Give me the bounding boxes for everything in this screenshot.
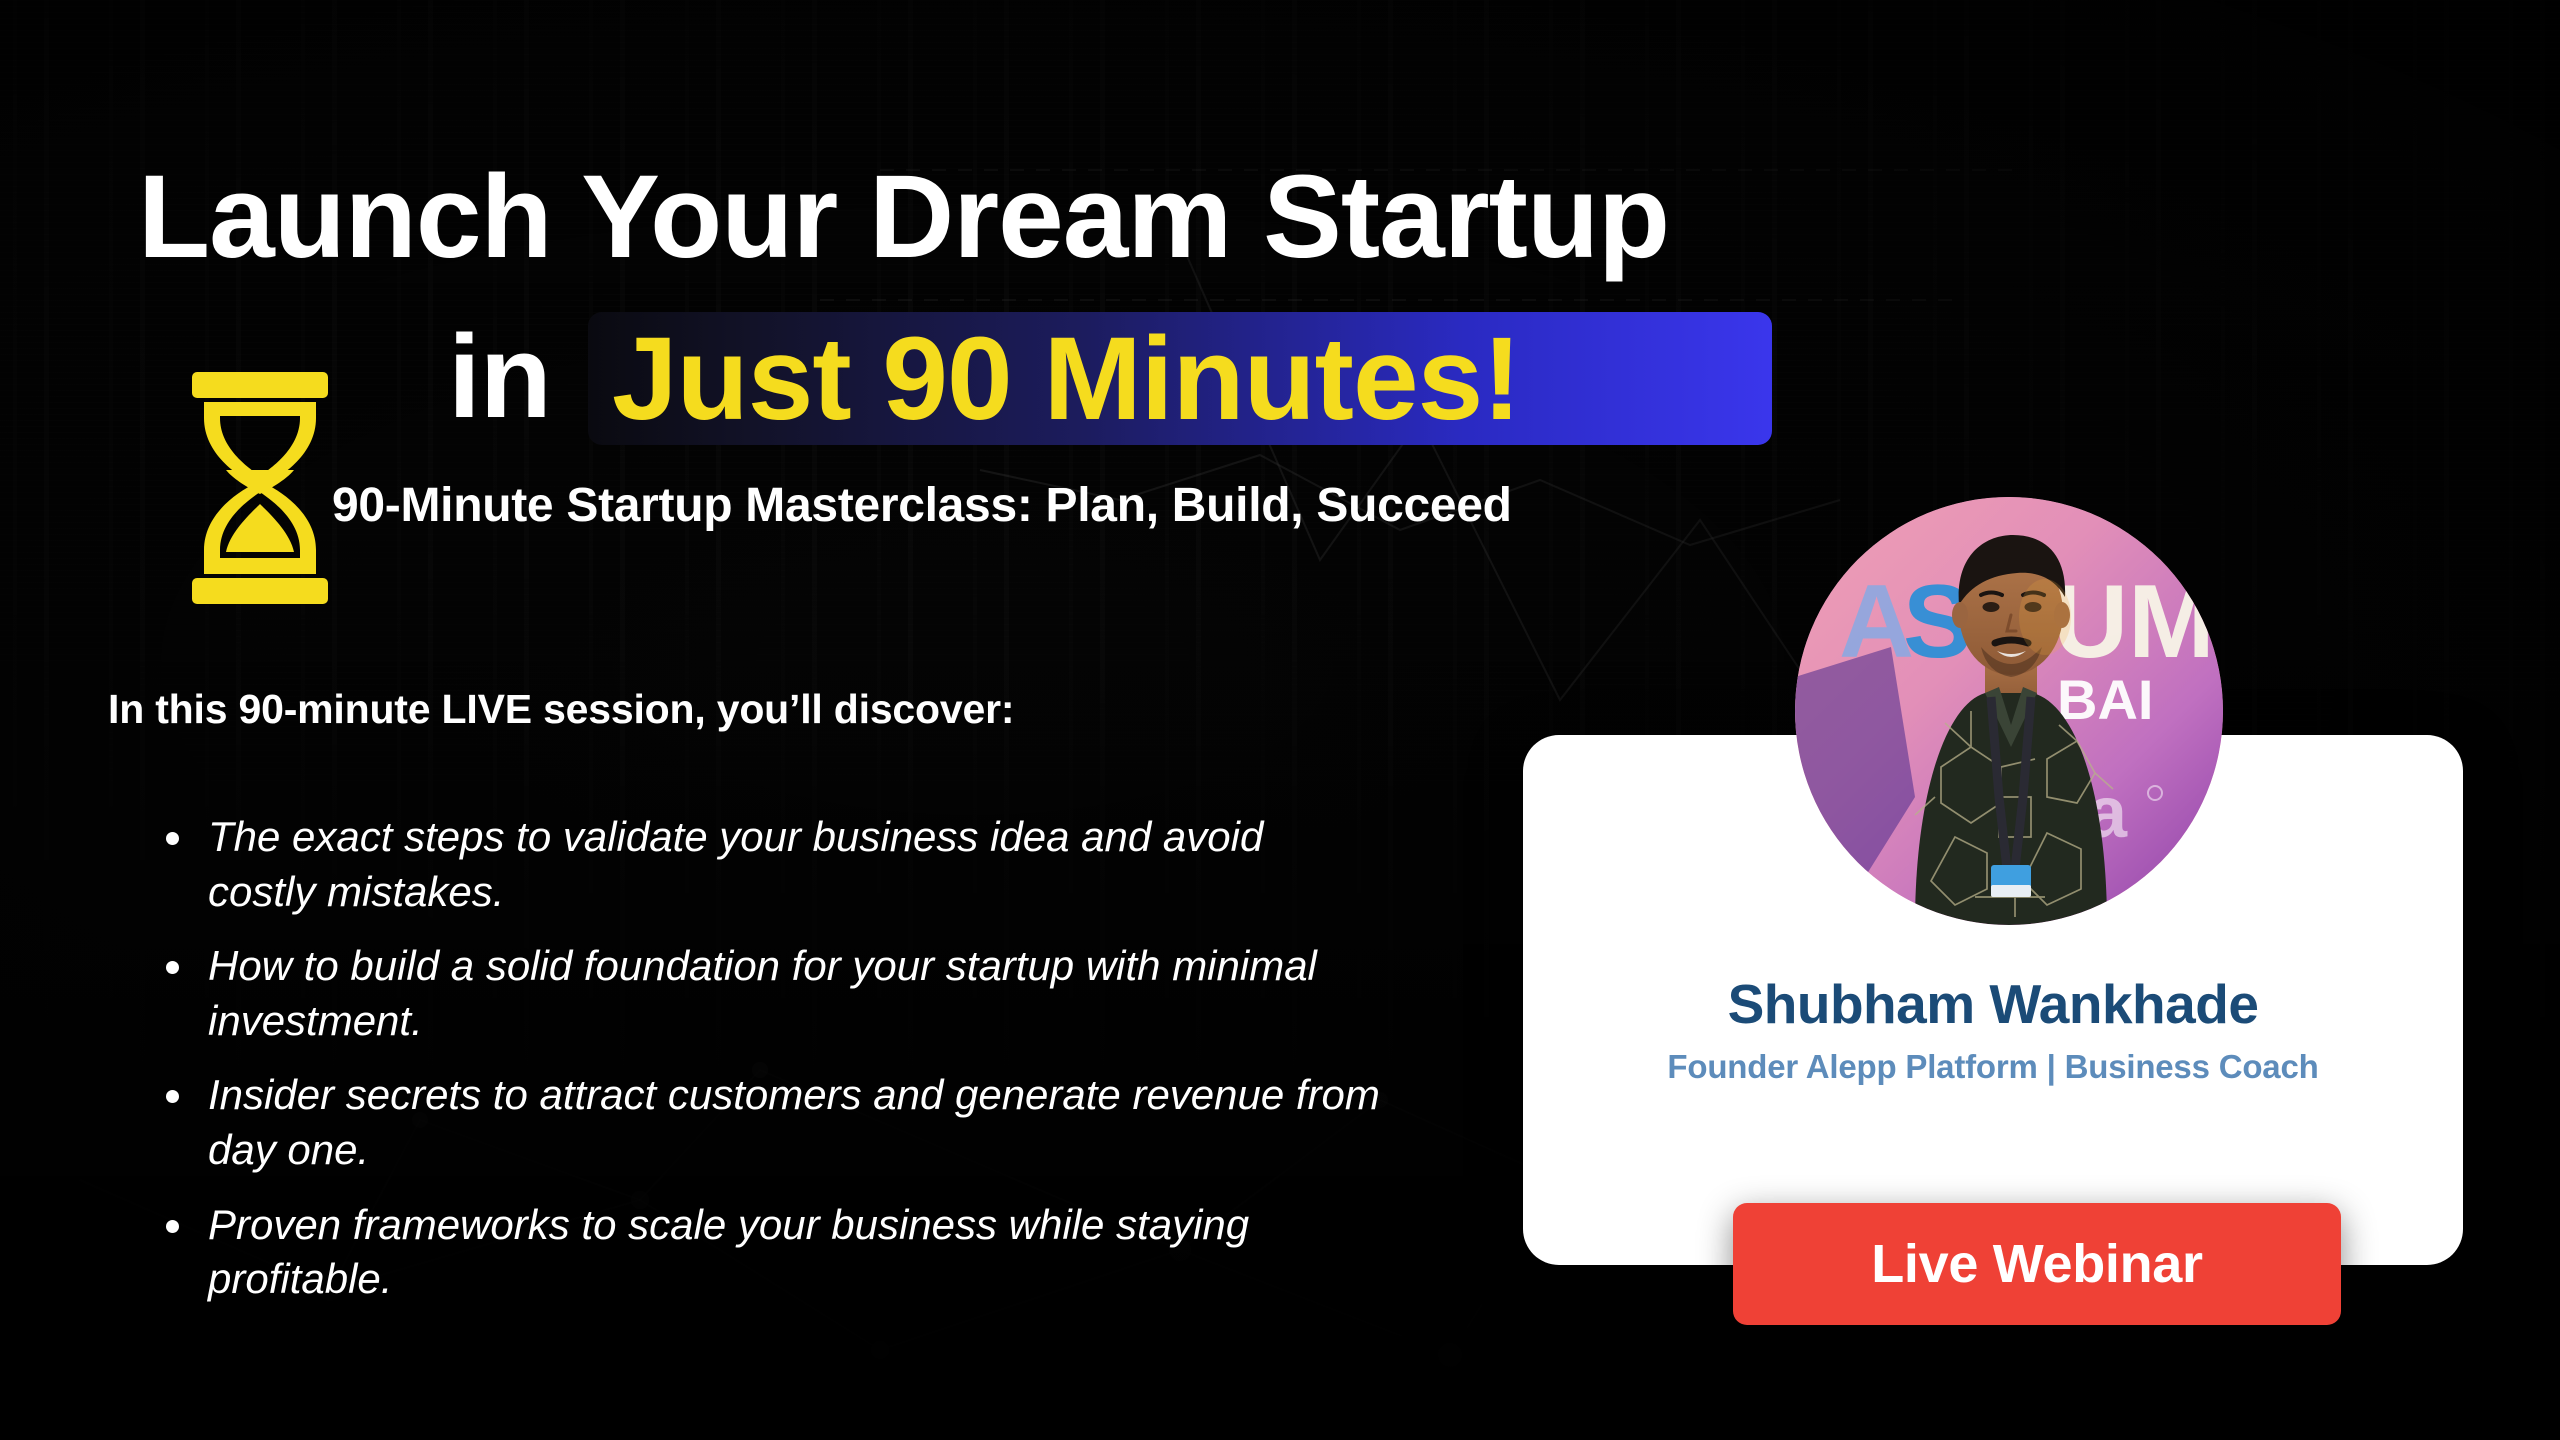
headline-highlight-text: Just 90 Minutes! <box>612 318 1521 442</box>
lead-in-text: In this 90-minute LIVE session, you’ll d… <box>108 686 1014 733</box>
svg-text:BAI: BAI <box>2057 668 2153 731</box>
speaker-name: Shubham Wankhade <box>1523 972 2463 1036</box>
headline-line-2-prefix: in <box>448 318 551 436</box>
hourglass-icon <box>186 372 334 604</box>
avatar-photo: A S UMM BAI a <box>1795 497 2223 925</box>
list-item: Proven frameworks to scale your business… <box>150 1198 1380 1307</box>
headline-line-2: in <box>448 312 575 442</box>
list-item: The exact steps to validate your busines… <box>150 810 1380 919</box>
live-webinar-button[interactable]: Live Webinar <box>1733 1203 2341 1325</box>
list-item: Insider secrets to attract customers and… <box>150 1068 1380 1177</box>
avatar: A S UMM BAI a <box>1795 497 2223 925</box>
list-item: How to build a solid foundation for your… <box>150 939 1380 1048</box>
webinar-banner: Launch Your Dream Startup in Just 90 Min… <box>0 0 2560 1440</box>
left-content-column: Launch Your Dream Startup in Just 90 Min… <box>0 0 1500 1440</box>
speaker-role: Founder Alepp Platform | Business Coach <box>1523 1048 2463 1086</box>
subtitle: 90-Minute Startup Masterclass: Plan, Bui… <box>332 478 1512 533</box>
benefits-list: The exact steps to validate your busines… <box>150 810 1380 1327</box>
headline-line-1: Launch Your Dream Startup <box>138 158 1669 276</box>
